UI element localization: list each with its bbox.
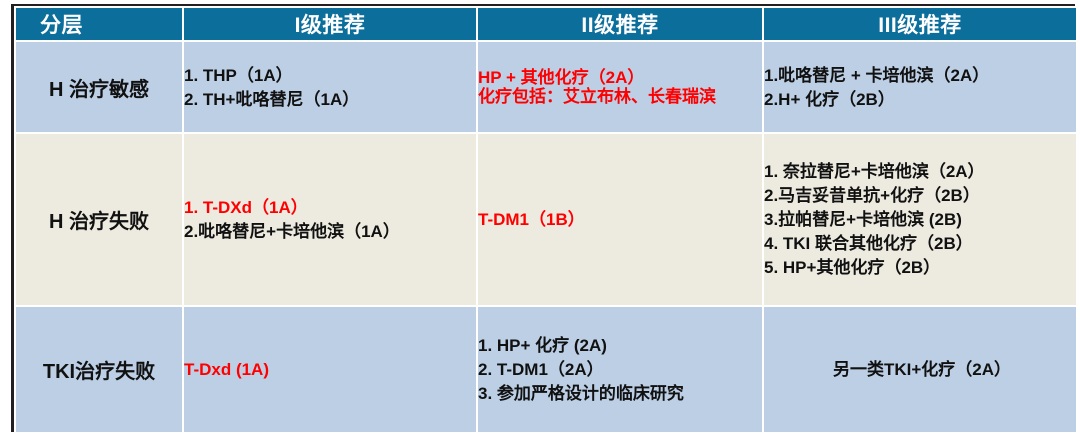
cell-level-1: 1. T-DXd（1A） 2.吡咯替尼+卡培他滨（1A）	[183, 133, 477, 306]
recommendation-item: 5. HP+其他化疗（2B）	[764, 259, 1076, 276]
cell-level-2: 1. HP+ 化疗 (2A) 2. T-DM1（2A） 3. 参加严格设计的临床…	[477, 306, 763, 433]
recommendation-item: 3. 参加严格设计的临床研究	[478, 385, 762, 402]
recommendation-item: 2.H+ 化疗（2B）	[764, 91, 1076, 108]
cell-level-2: HP + 其他化疗（2A） 化疗包括：艾立布林、长春瑞滨	[477, 41, 763, 133]
her2-treatment-recommendation-table: 分层 I级推荐 II级推荐 III级推荐 H 治疗敏感 1. THP（1A） 2…	[14, 6, 1078, 434]
recommendation-item: 3.拉帕替尼+卡培他滨 (2B)	[764, 211, 1076, 228]
header-strata: 分层	[15, 7, 183, 41]
recommendation-item: T-Dxd (1A)	[184, 361, 476, 378]
header-level-3: III级推荐	[763, 7, 1077, 41]
recommendation-item: HP + 其他化疗（2A）	[478, 69, 762, 86]
row-strata-label: TKI治疗失败	[15, 306, 183, 433]
row-strata-label: H 治疗敏感	[15, 41, 183, 133]
recommendation-item: 2.吡咯替尼+卡培他滨（1A）	[184, 223, 476, 240]
cell-level-3: 另一类TKI+化疗（2A）	[763, 306, 1077, 433]
header-level-2: II级推荐	[477, 7, 763, 41]
header-level-1: I级推荐	[183, 7, 477, 41]
row-strata-label: H 治疗失败	[15, 133, 183, 306]
recommendation-item: 1. 奈拉替尼+卡培他滨（2A）	[764, 163, 1076, 180]
recommendation-item: 1. T-DXd（1A）	[184, 199, 476, 216]
recommendation-item: 1.吡咯替尼 + 卡培他滨（2A）	[764, 67, 1076, 84]
cell-level-2: T-DM1（1B）	[477, 133, 763, 306]
cell-level-1: T-Dxd (1A)	[183, 306, 477, 433]
cell-level-3: 1.吡咯替尼 + 卡培他滨（2A） 2.H+ 化疗（2B）	[763, 41, 1077, 133]
recommendation-item: 2.马吉妥昔单抗+化疗（2B）	[764, 187, 1076, 204]
recommendation-item: 2. TH+吡咯替尼（1A）	[184, 91, 476, 108]
cell-level-3: 1. 奈拉替尼+卡培他滨（2A） 2.马吉妥昔单抗+化疗（2B） 3.拉帕替尼+…	[763, 133, 1077, 306]
table-body: H 治疗敏感 1. THP（1A） 2. TH+吡咯替尼（1A） HP + 其他…	[15, 41, 1077, 433]
table-row: H 治疗失败 1. T-DXd（1A） 2.吡咯替尼+卡培他滨（1A） T-DM…	[15, 133, 1077, 306]
recommendation-item: 1. THP（1A）	[184, 67, 476, 84]
recommendation-item: T-DM1（1B）	[478, 211, 762, 228]
recommendation-item: 另一类TKI+化疗（2A）	[768, 361, 1076, 378]
recommendation-item: 4. TKI 联合其他化疗（2B）	[764, 235, 1076, 252]
table-row: H 治疗敏感 1. THP（1A） 2. TH+吡咯替尼（1A） HP + 其他…	[15, 41, 1077, 133]
header-row: 分层 I级推荐 II级推荐 III级推荐	[15, 7, 1077, 41]
cell-level-1: 1. THP（1A） 2. TH+吡咯替尼（1A）	[183, 41, 477, 133]
recommendation-item: 1. HP+ 化疗 (2A)	[478, 337, 762, 354]
table-header: 分层 I级推荐 II级推荐 III级推荐	[15, 7, 1077, 41]
table-row: TKI治疗失败 T-Dxd (1A) 1. HP+ 化疗 (2A) 2. T-D…	[15, 306, 1077, 433]
recommendation-item: 2. T-DM1（2A）	[478, 361, 762, 378]
recommendation-item: 化疗包括：艾立布林、长春瑞滨	[478, 88, 762, 105]
guideline-table-container: 分层 I级推荐 II级推荐 III级推荐 H 治疗敏感 1. THP（1A） 2…	[0, 0, 1080, 438]
